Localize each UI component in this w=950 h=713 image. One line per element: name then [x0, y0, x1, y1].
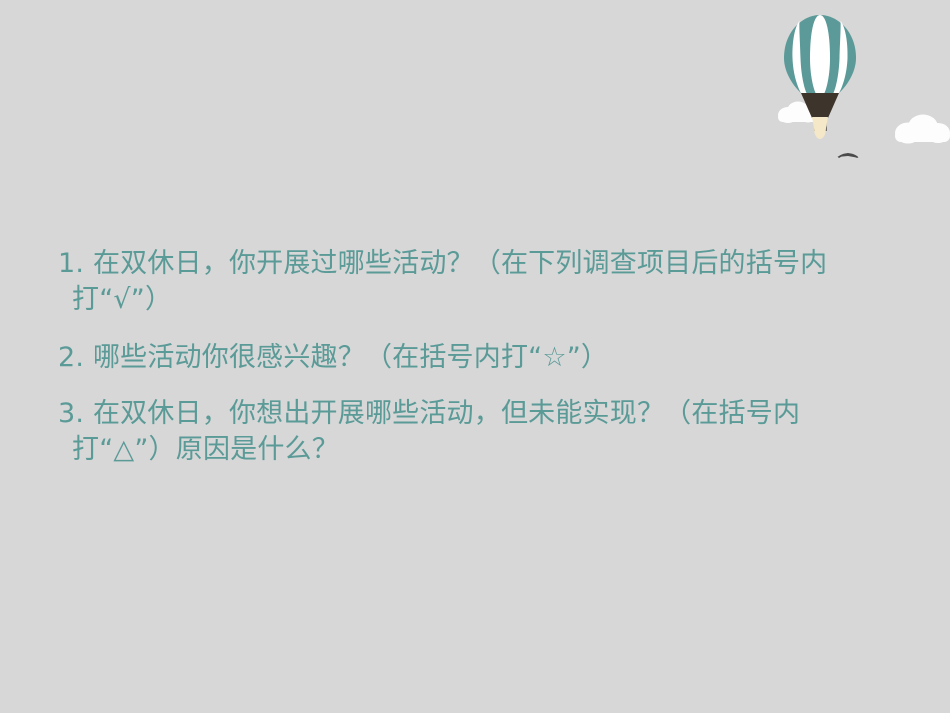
question-item-1: 1. 在双休日，你开展过哪些活动？（在下列调查项目后的括号内打“√”） [58, 246, 868, 318]
question-item-2: 2. 哪些活动你很感兴趣？（在括号内打“☆”） [58, 340, 868, 376]
question-list: 1. 在双休日，你开展过哪些活动？（在下列调查项目后的括号内打“√”） 2. 哪… [58, 246, 868, 468]
slide-canvas: 1. 在双休日，你开展过哪些活动？（在下列调查项目后的括号内打“√”） 2. 哪… [0, 0, 950, 713]
cloud-right-icon [895, 115, 950, 144]
question-item-3: 3. 在双休日，你想出开展哪些活动，但未能实现？（在括号内打“△”）原因是什么？ [58, 396, 868, 468]
bird-lower-icon [837, 153, 859, 158]
sky-illustration [740, 0, 950, 185]
